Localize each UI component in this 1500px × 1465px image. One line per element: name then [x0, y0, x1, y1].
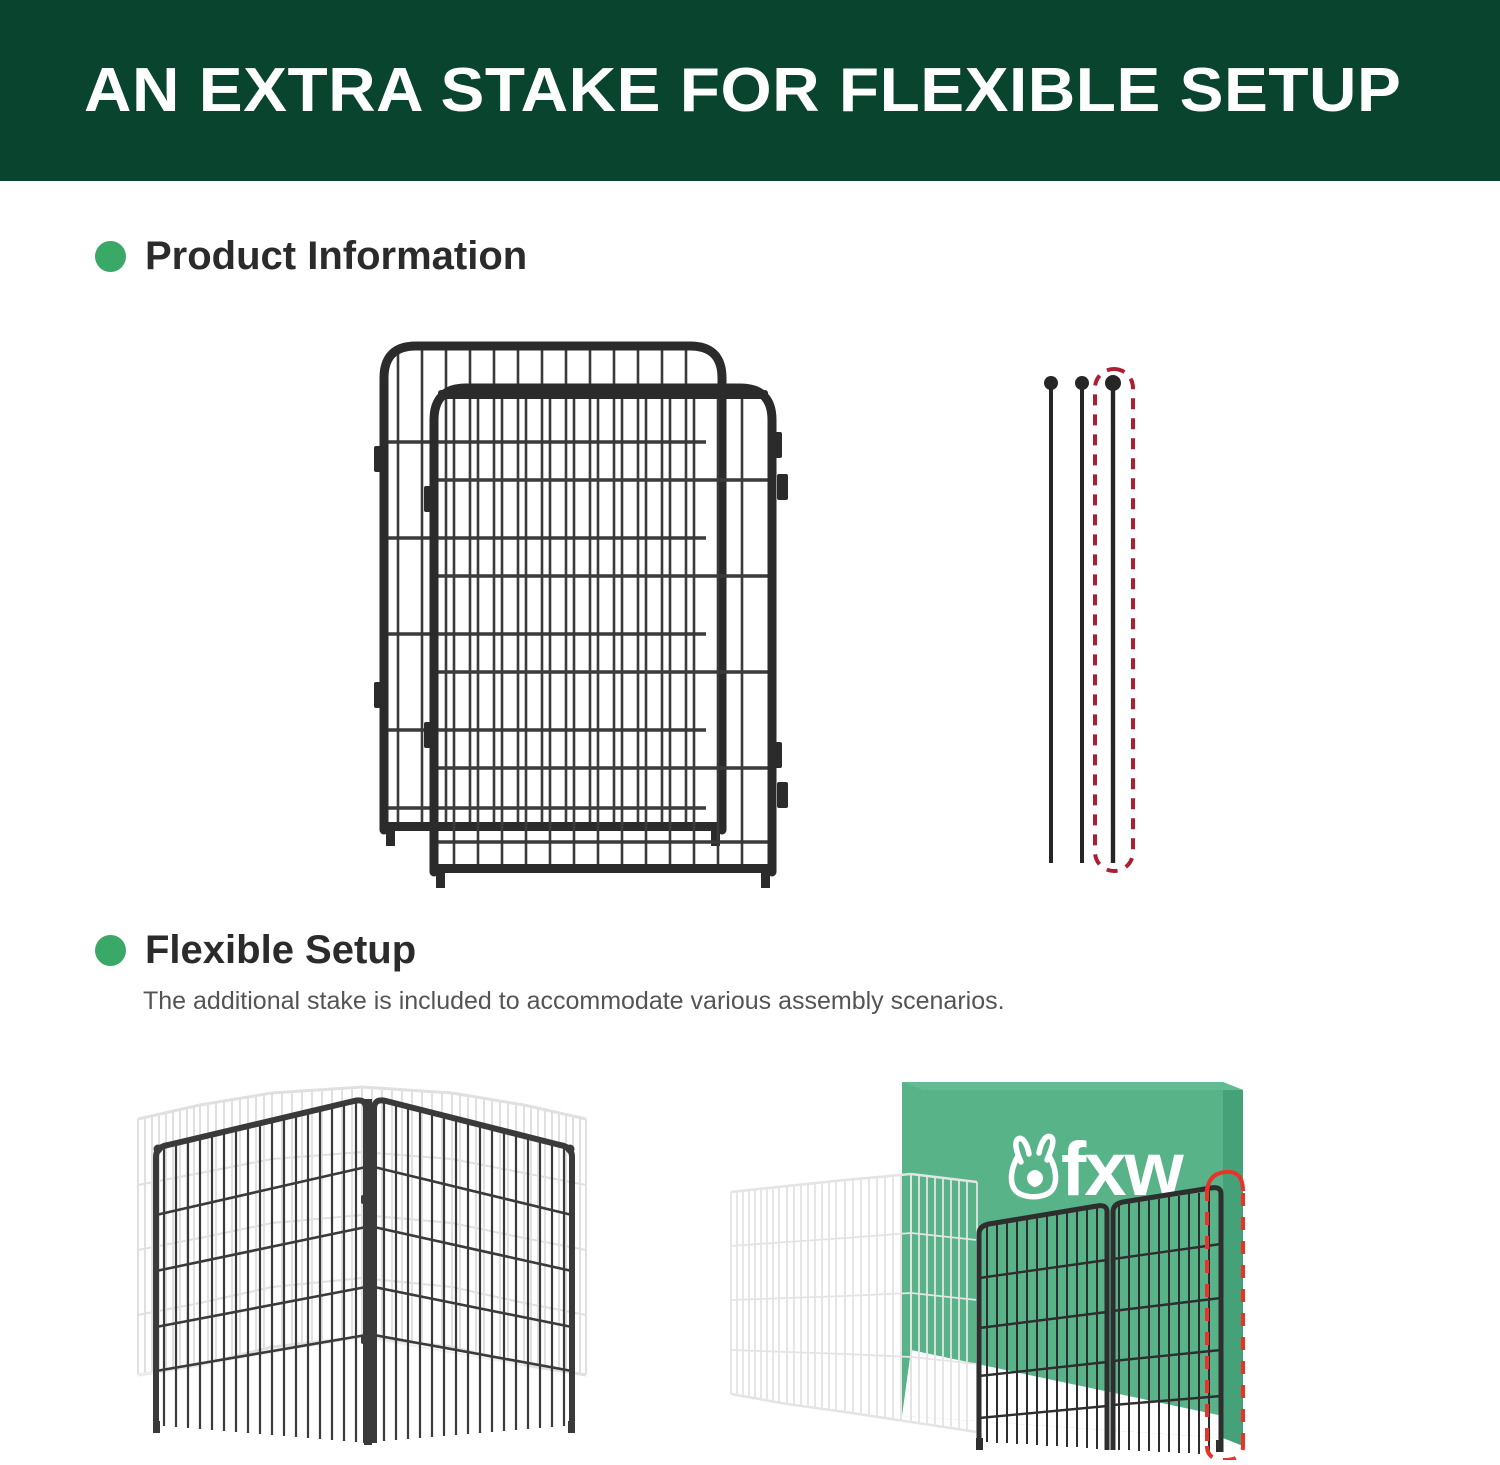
connector-tab: [424, 722, 435, 748]
pen-panel-front-left-highlighted: [153, 1100, 366, 1443]
pen-faded-panels: [138, 1087, 586, 1375]
connector-tab: [374, 446, 385, 472]
stake-1: [1044, 376, 1058, 863]
stakes-illustration: [1025, 365, 1155, 875]
stake-3-highlighted: [1105, 375, 1121, 863]
section-heading-flexible-setup: Flexible Setup: [95, 930, 416, 970]
connector-tab: [771, 742, 782, 768]
octagonal-pen-svg: [100, 1075, 630, 1460]
gate-panels-illustration: [368, 330, 798, 890]
section-subtitle-flexible-setup: The additional stake is included to acco…: [143, 985, 1005, 1018]
gate-panels-svg: [368, 330, 798, 890]
connector-tab: [374, 682, 385, 708]
logo-wordmark: fxw: [1061, 1127, 1185, 1212]
section-title-product-information: Product Information: [145, 236, 527, 276]
octagonal-pen-illustration: [100, 1075, 630, 1460]
stakes-svg: [1025, 365, 1155, 875]
connector-tab: [771, 432, 782, 458]
wall-scene-illustration: fxw: [715, 1060, 1355, 1460]
bullet-icon: [95, 241, 126, 272]
bullet-icon: [95, 935, 126, 966]
wall-scene-svg: fxw: [715, 1060, 1355, 1460]
connector-tab: [424, 486, 435, 512]
page-title: AN EXTRA STAKE FOR FLEXIBLE SETUP: [84, 60, 1401, 122]
section-title-flexible-setup: Flexible Setup: [145, 930, 416, 970]
section-heading-product-information: Product Information: [95, 236, 527, 276]
stake-2: [1075, 376, 1089, 863]
header-banner: AN EXTRA STAKE FOR FLEXIBLE SETUP: [0, 0, 1500, 181]
gate-panel-front: [424, 386, 782, 888]
